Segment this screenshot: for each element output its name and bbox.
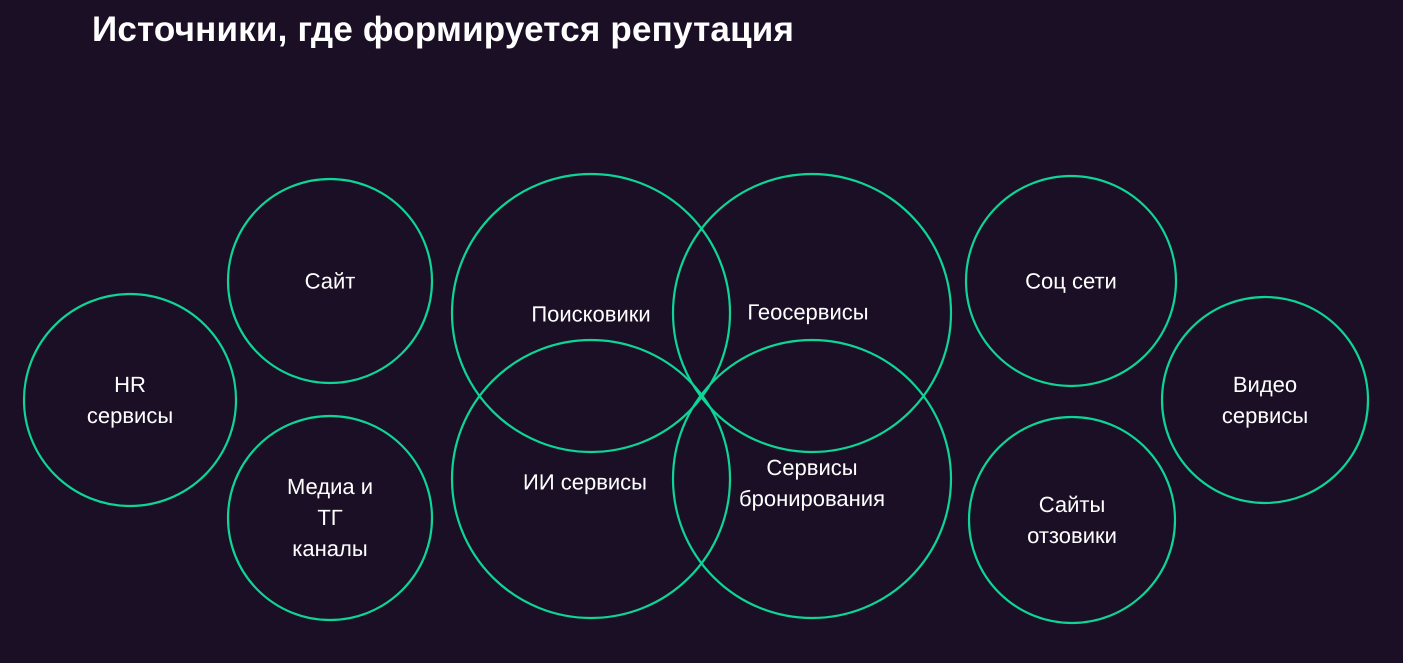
- venn-circles-layer: [0, 0, 1403, 663]
- slide-root: Источники, где формируется репутация HR …: [0, 0, 1403, 663]
- venn-circle-reviews[interactable]: [969, 417, 1175, 623]
- venn-circle-media[interactable]: [228, 416, 432, 620]
- venn-circle-search[interactable]: [452, 174, 730, 452]
- venn-circle-hr[interactable]: [24, 294, 236, 506]
- venn-circle-ai[interactable]: [452, 340, 730, 618]
- venn-circle-site[interactable]: [228, 179, 432, 383]
- venn-circle-booking[interactable]: [673, 340, 951, 618]
- venn-diagram: HR сервисыСайтМедиа и ТГ каналыПоисковик…: [0, 0, 1403, 663]
- venn-circle-geo[interactable]: [673, 174, 951, 452]
- venn-circle-video[interactable]: [1162, 297, 1368, 503]
- venn-circle-social[interactable]: [966, 176, 1176, 386]
